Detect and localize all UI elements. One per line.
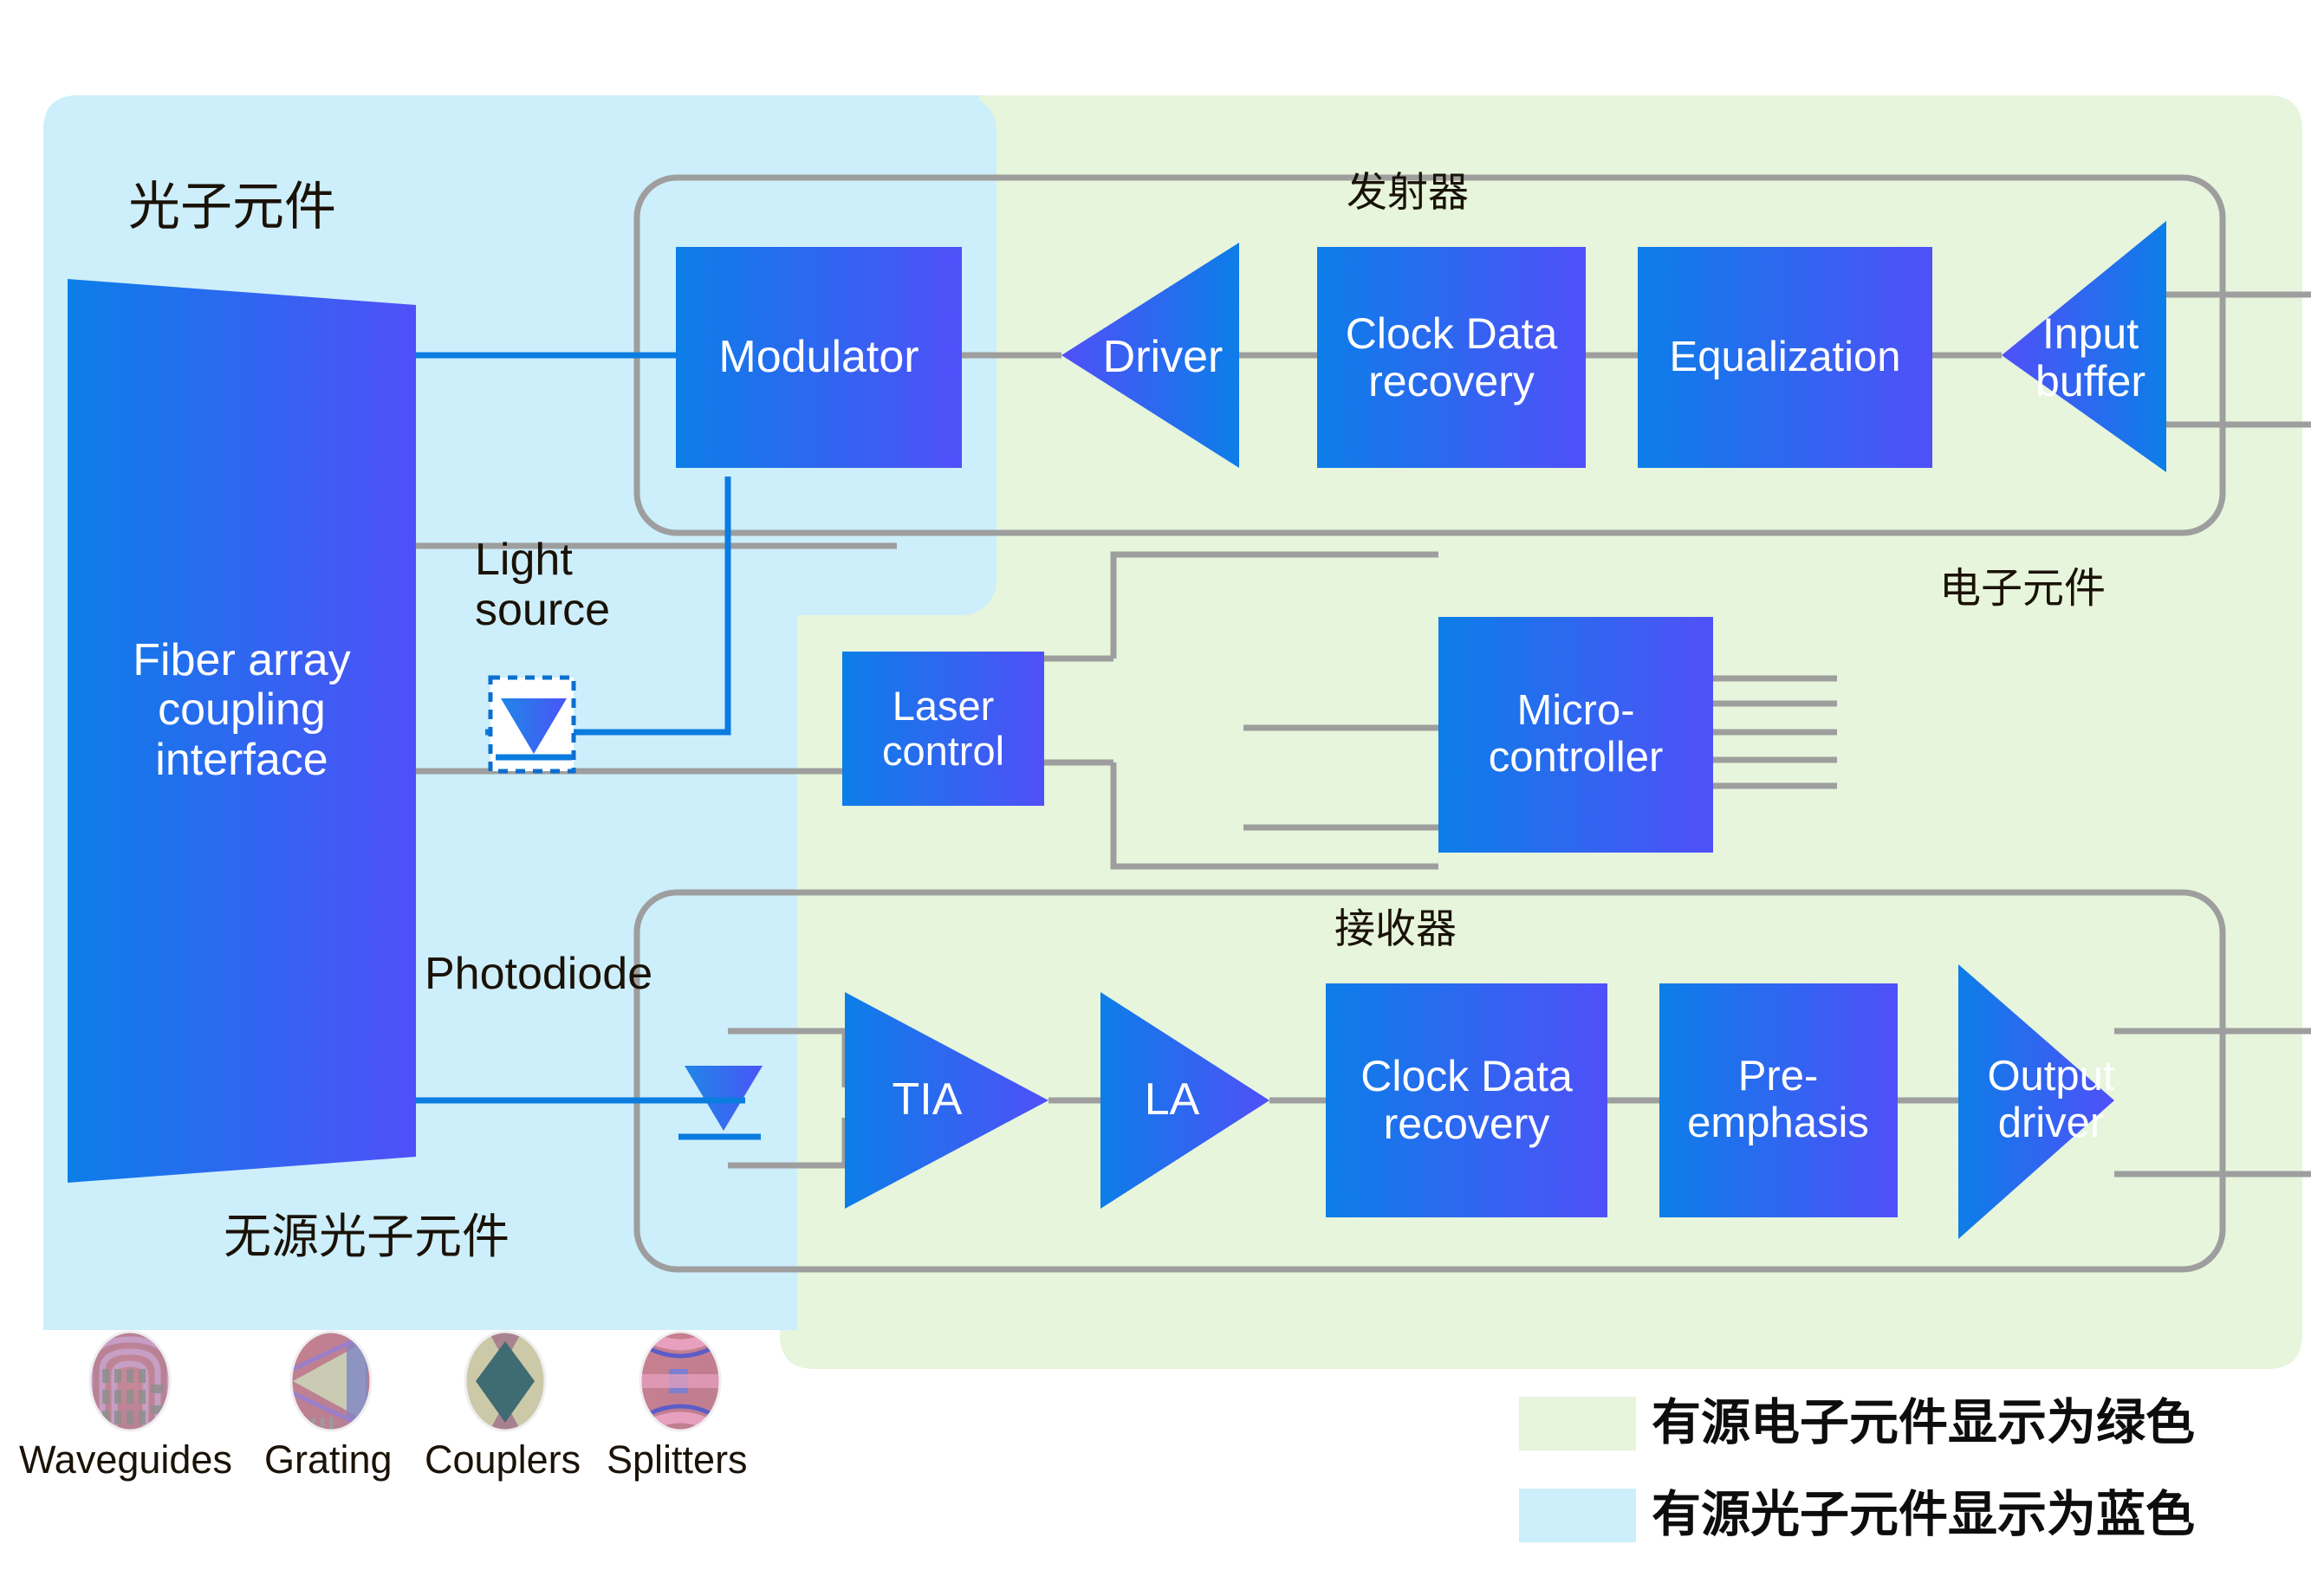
- tx-cdr-shape: [1317, 247, 1586, 468]
- passive-caption-couplers: Couplers: [425, 1438, 581, 1482]
- passive-caption-grating: Grating: [264, 1438, 393, 1482]
- photonic-transceiver-diagram: 光子元件 电子元件 无源光子元件 发射器 接收器 Fiber array cou…: [0, 0, 2311, 1596]
- light-source-symbol: [490, 678, 574, 771]
- passive-caption-waveguides: Waveguides: [19, 1438, 232, 1482]
- receiver-group-label: 接收器: [1334, 906, 1457, 952]
- diagram-canvas: [0, 0, 2311, 1596]
- rx-cdr-shape: [1326, 983, 1607, 1217]
- laser-control-shape: [842, 652, 1044, 806]
- pre-emphasis-shape: [1659, 983, 1898, 1217]
- photonic-panel-label: 光子元件: [128, 178, 336, 236]
- photodiode-annotation: Photodiode: [425, 949, 652, 999]
- light-source-annotation: Light source: [475, 535, 610, 635]
- legend-text-electronic: 有源电子元件显示为绿色: [1652, 1383, 2195, 1454]
- passive-caption-splitters: Splitters: [607, 1438, 748, 1482]
- passive-photonic-label: 无源光子元件: [224, 1210, 510, 1264]
- transmitter-group-label: 发射器: [1347, 170, 1469, 216]
- fiber-array-shape: [68, 279, 416, 1183]
- electronic-panel-label: 电子元件: [1939, 566, 2106, 613]
- legend-swatch-photonic: [1519, 1489, 1636, 1542]
- microcontroller-shape: [1438, 617, 1713, 853]
- equalization-shape: [1638, 247, 1932, 468]
- legend-swatch-electronic: [1519, 1397, 1636, 1450]
- passive-component-thumbnails: [87, 1326, 724, 1438]
- legend-text-photonic: 有源光子元件显示为蓝色: [1652, 1475, 2195, 1546]
- modulator-shape: [676, 247, 962, 468]
